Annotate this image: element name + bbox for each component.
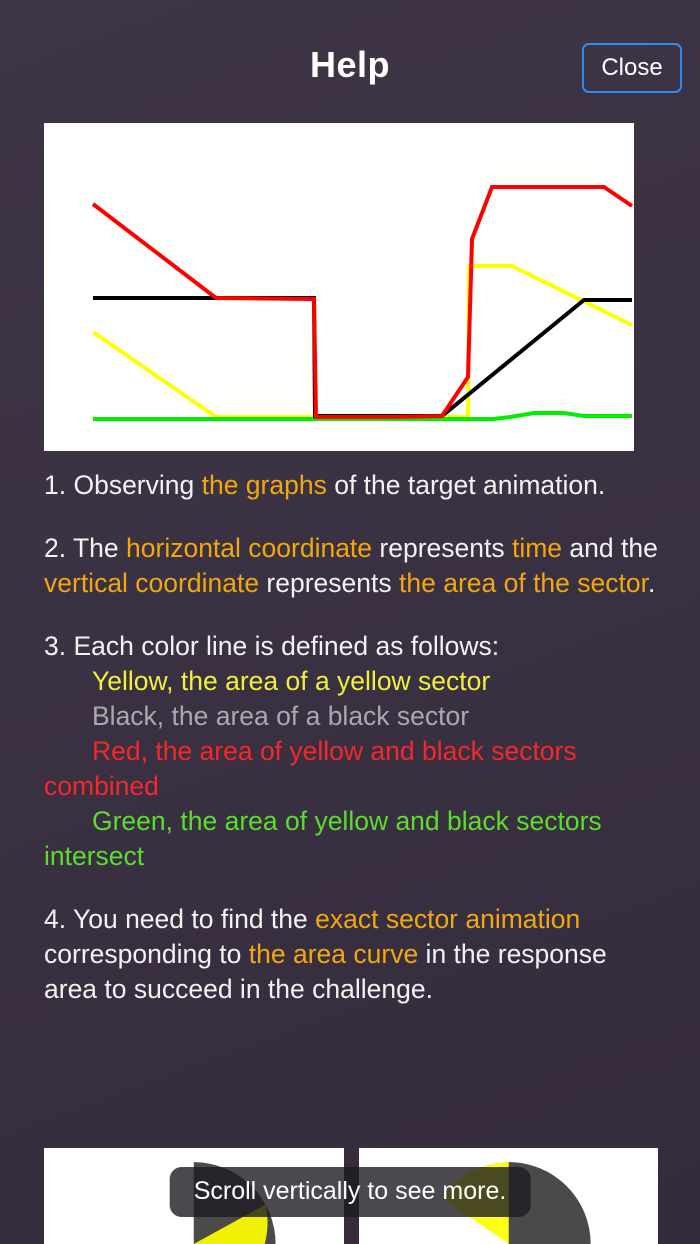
item4-highlight-curve: the area curve (249, 939, 418, 969)
legend-line-green: Green, the area of yellow and black sect… (44, 806, 602, 871)
instructions-block: 1. Observing the graphs of the target an… (44, 468, 658, 1007)
instruction-item-3: 3. Each color line is defined as follows… (44, 629, 658, 874)
item4-prefix: 4. You need to find the (44, 904, 315, 934)
item4-highlight-animation: exact sector animation (315, 904, 580, 934)
help-dialog: Help Close 1. Observing the graphs of th… (0, 0, 700, 1244)
item1-suffix: of the target animation. (327, 470, 605, 500)
item1-highlight-graphs: the graphs (202, 470, 327, 500)
item1-prefix: 1. Observing (44, 470, 202, 500)
chart-line (93, 187, 632, 417)
instruction-item-1: 1. Observing the graphs of the target an… (44, 468, 658, 503)
item4-mid-1: corresponding to (44, 939, 249, 969)
legend-line-red: Red, the area of yellow and black sector… (44, 736, 577, 801)
close-button[interactable]: Close (582, 43, 682, 93)
item2-suffix: . (648, 568, 655, 598)
item2-highlight-vertical: vertical coordinate (44, 568, 259, 598)
legend-line-black: Black, the area of a black sector (92, 701, 469, 731)
item2-mid-3: represents (259, 568, 399, 598)
scroll-hint-toast: Scroll vertically to see more. (170, 1167, 531, 1217)
instruction-item-4: 4. You need to find the exact sector ani… (44, 902, 658, 1007)
dialog-header: Help Close (0, 0, 700, 110)
item2-highlight-time: time (512, 533, 562, 563)
chart-canvas (44, 123, 634, 451)
item2-mid-2: and the (562, 533, 658, 563)
instruction-item-2: 2. The horizontal coordinate represents … (44, 531, 658, 601)
item2-mid-1: represents (372, 533, 512, 563)
item3-heading: 3. Each color line is defined as follows… (44, 631, 499, 661)
item2-highlight-horizontal: horizontal coordinate (126, 533, 372, 563)
item2-highlight-area: the area of the sector (399, 568, 648, 598)
item2-prefix: 2. The (44, 533, 126, 563)
area-curve-chart (44, 123, 634, 451)
chart-line (93, 298, 632, 416)
legend-line-yellow: Yellow, the area of a yellow sector (92, 666, 490, 696)
chart-line (93, 266, 632, 417)
